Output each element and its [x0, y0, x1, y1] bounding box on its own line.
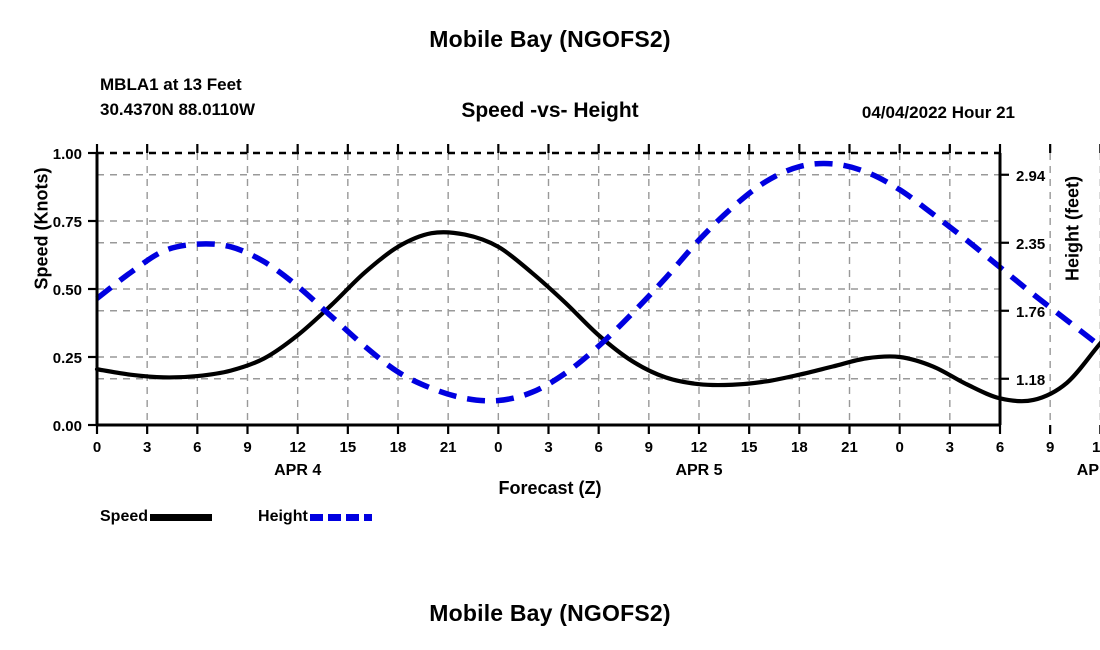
y-axis-label-right: Height (feet) — [1063, 159, 1084, 299]
x-tick-label: 0 — [93, 439, 101, 456]
y-axis-label-left: Speed (Knots) — [32, 159, 53, 299]
legend-label-speed: Speed — [100, 508, 148, 526]
x-tick-label: 18 — [791, 439, 808, 456]
x-tick-label: 0 — [895, 439, 903, 456]
x-tick-label: 18 — [390, 439, 407, 456]
plot-area: 036912151821036912151821036912151821036A… — [0, 0, 1100, 650]
x-tick-label: 6 — [594, 439, 602, 456]
x-tick-label: 3 — [143, 439, 151, 456]
legend-swatch-height-icon — [310, 514, 372, 521]
x-tick-label: 6 — [193, 439, 201, 456]
y-tick-label-right: 2.35 — [1016, 236, 1045, 253]
x-tick-label: 9 — [1046, 439, 1054, 456]
x-tick-label: 15 — [339, 439, 356, 456]
y-tick-label-right: 2.94 — [1016, 168, 1046, 185]
x-tick-label: 15 — [741, 439, 758, 456]
y-tick-label-left: 1.00 — [53, 146, 82, 163]
y-tick-label-left: 0.50 — [53, 282, 82, 299]
x-axis-day-label: APR 6 — [1077, 462, 1100, 479]
x-tick-label: 6 — [996, 439, 1004, 456]
x-tick-label: 12 — [1092, 439, 1100, 456]
x-tick-label: 9 — [645, 439, 653, 456]
x-axis-day-label: APR 5 — [675, 462, 722, 479]
x-tick-label: 12 — [289, 439, 306, 456]
x-tick-label: 21 — [440, 439, 457, 456]
x-tick-label: 21 — [841, 439, 858, 456]
legend-item-height: Height — [258, 508, 372, 526]
page-title-bottom: Mobile Bay (NGOFS2) — [0, 600, 1100, 627]
legend-item-speed: Speed — [100, 508, 212, 526]
x-tick-label: 3 — [544, 439, 552, 456]
legend-swatch-speed-icon — [150, 514, 212, 521]
chart-page: Mobile Bay (NGOFS2) MBLA1 at 13 Feet 30.… — [0, 0, 1100, 650]
y-tick-label-right: 1.18 — [1016, 372, 1045, 389]
x-axis-label: Forecast (Z) — [0, 478, 1100, 499]
x-tick-label: 0 — [494, 439, 502, 456]
x-axis-day-label: APR 4 — [274, 462, 321, 479]
y-tick-label-right: 1.76 — [1016, 304, 1045, 321]
y-tick-label-left: 0.00 — [53, 418, 82, 435]
x-tick-label: 9 — [243, 439, 251, 456]
x-tick-label: 3 — [946, 439, 954, 456]
y-tick-label-left: 0.25 — [53, 350, 82, 367]
legend-label-height: Height — [258, 508, 308, 526]
x-tick-label: 12 — [691, 439, 708, 456]
y-tick-label-left: 0.75 — [53, 214, 82, 231]
chart-legend: Speed Height — [100, 508, 372, 526]
speed-height-line-chart: 036912151821036912151821036912151821036A… — [0, 0, 1100, 650]
